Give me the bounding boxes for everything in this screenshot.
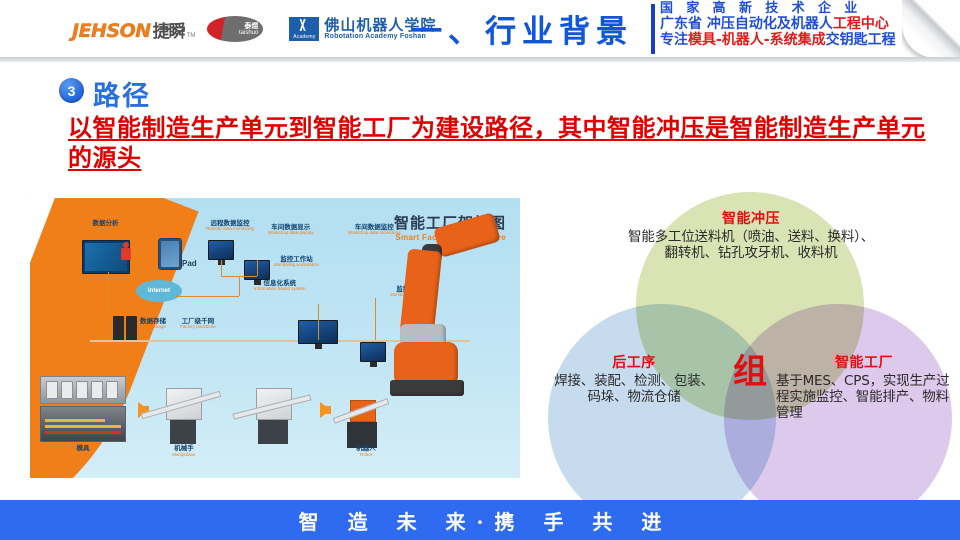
label-mold: 模具 Mold <box>58 442 108 457</box>
jehson-logo-cn: 捷瞬 <box>153 17 185 42</box>
venn-label-smart-factory: 智能工厂 基于MES、CPS，实现生产过程实施监控、智能排产、物料管理 <box>776 352 952 422</box>
company-claim-line-2: 广东省 冲压自动化及机器人工程中心 <box>660 17 918 31</box>
section-title: 一、行业背景 <box>402 6 642 51</box>
company-claim-line-3-segment-2: 交钥匙工程 <box>826 32 896 48</box>
header-divider <box>0 57 960 62</box>
robot-arm-forearm <box>400 248 443 335</box>
label-robot-cn: 机器人 <box>338 442 394 452</box>
node-remote-monitoring: 远程数据监控 Remote data monitoring <box>206 220 254 232</box>
remote-monitor-1-connector <box>221 260 222 276</box>
logo-row: JEHSON 捷瞬 TM 泰煜 taishuo Academy 佛山机器人学院 … <box>72 9 436 49</box>
company-claim-line-2-segment-0: 广东省 冲压自动化及机器人 <box>660 16 833 32</box>
mold-photo-top <box>40 376 126 404</box>
node-data-analysis-en: Data analysis <box>92 227 119 232</box>
label-robot: 机器人 Robot <box>338 442 394 457</box>
venn-label-smart-stamping: 智能冲压 智能多工位送料机（喷油、送料、换料）、翻转机、钻孔攻牙机、收料机 <box>622 208 880 261</box>
academy-mark-label: Academy <box>293 34 315 40</box>
node-data-storage-en: Data storage <box>140 325 166 330</box>
robot-machine <box>350 400 377 448</box>
label-mold-en: Mold <box>58 452 108 457</box>
page-title: 路径 <box>93 74 151 113</box>
label-manipulator-en: Manipulator <box>156 452 212 457</box>
page-curl-decoration <box>902 0 960 58</box>
manipulator-machine-2 <box>256 388 292 444</box>
remote-monitor-drop <box>239 276 240 296</box>
flow-arrow-2-icon <box>320 402 331 418</box>
node-monitoring-workstation-1-en: Monitoring workstation <box>274 263 319 268</box>
step-number-badge: 3 <box>59 78 84 103</box>
node-data-analysis: 数据分析 Data analysis <box>92 220 119 232</box>
analytics-connector <box>108 272 109 316</box>
company-claim-line-2-segment-1: 工程中心 <box>833 16 889 32</box>
jehson-logo: JEHSON 捷瞬 TM <box>72 17 195 42</box>
footer-slogan: 智 造 未 来·携 手 共 进 <box>288 506 673 535</box>
remote-monitor-2-connector <box>257 260 258 276</box>
pad-label-text: Pad <box>182 260 197 269</box>
venn-label-smart-factory-title: 智能工厂 <box>776 352 952 372</box>
slide-header: JEHSON 捷瞬 TM 泰煜 taishuo Academy 佛山机器人学院 … <box>0 0 960 58</box>
slide-footer: 智 造 未 来·携 手 共 进 <box>0 500 960 540</box>
venn-label-post-process-body: 焊接、装配、检测、包装、码垛、物流仓储 <box>550 373 718 405</box>
node-workshop-display-en: Workshop data display <box>268 231 313 236</box>
tablet-icon <box>158 238 182 270</box>
server-2-icon <box>126 316 137 342</box>
node-remote-monitoring-en: Remote data monitoring <box>206 227 254 232</box>
operator-figure-icon <box>118 242 134 264</box>
academy-mark-icon: Academy <box>289 17 319 41</box>
pad-label: Pad <box>182 260 197 269</box>
remote-monitor-1-icon <box>208 240 234 260</box>
internet-cloud-icon: Internet <box>136 280 182 302</box>
company-claim-line-3: 专注模具-机器人-系统集成交钥匙工程 <box>660 33 918 47</box>
internet-cloud-label: Internet <box>148 288 170 294</box>
taihuo-logo: 泰煜 taishuo <box>207 16 263 42</box>
mold-photo-bottom <box>40 406 126 442</box>
taihuo-logo-en: taishuo <box>239 30 258 36</box>
venn-label-smart-stamping-title: 智能冲压 <box>622 208 880 228</box>
venn-label-post-process-title: 后工序 <box>550 352 718 372</box>
venn-label-smart-stamping-body: 智能多工位送料机（喷油、送料、换料）、翻转机、钻孔攻牙机、收料机 <box>622 229 880 261</box>
label-mold-cn: 模具 <box>58 442 108 452</box>
jehson-logo-en: JEHSON <box>72 20 151 42</box>
node-factory-backbone-en: Factory backbone <box>180 325 216 330</box>
manipulator-machine-1 <box>166 388 202 444</box>
node-information-system: 信息化系统 Information based system <box>254 280 306 292</box>
jehson-trademark-icon: TM <box>187 33 196 39</box>
company-claim-line-1-segment-0: 国 家 高 新 技 术 企 业 <box>660 1 862 16</box>
label-robot-en: Robot <box>338 452 394 457</box>
cloud-to-monitor-line <box>176 296 239 297</box>
venn-diagram: 智能冲压 智能多工位送料机（喷油、送料、换料）、翻转机、钻孔攻牙机、收料机 后工… <box>548 192 948 492</box>
node-factory-backbone: 工厂级千网 Factory backbone <box>180 318 216 330</box>
company-claim-line-3-segment-0: 专注 <box>660 32 688 48</box>
taihuo-logo-cn: 泰煜 <box>239 23 258 30</box>
label-manipulator: 机械手 Manipulator <box>156 442 212 457</box>
slide-root: JEHSON 捷瞬 TM 泰煜 taishuo Academy 佛山机器人学院 … <box>0 0 960 540</box>
venn-label-post-process: 后工序 焊接、装配、检测、包装、码垛、物流仓储 <box>550 352 718 405</box>
company-claim-line-3-segment-1: 模具-机器人-系统集成 <box>688 32 826 48</box>
venn-center-label: 组 <box>698 344 802 393</box>
node-workshop-display: 车间数据显示 Workshop data display <box>268 224 313 236</box>
header-accent-bar <box>651 4 655 54</box>
production-flow-row: 模具 Mold 机械手 Manipulator <box>38 374 514 470</box>
company-claims: 国 家 高 新 技 术 企 业 广东省 冲压自动化及机器人工程中心 专注模具-机… <box>660 2 918 47</box>
node-monitoring-workstation-1: 监控工作站 Monitoring workstation <box>274 256 319 268</box>
label-manipulator-cn: 机械手 <box>156 442 212 452</box>
server-1-icon <box>113 316 124 342</box>
lead-paragraph: 以智能制造生产单元到智能工厂为建设路径，其中智能冲压是智能制造生产单元的源头 <box>68 113 948 173</box>
node-information-system-en: Information based system <box>254 287 306 292</box>
node-data-storage: 数据存储 Data storage <box>140 318 166 330</box>
company-claim-line-1: 国 家 高 新 技 术 企 业 <box>660 2 918 15</box>
smart-factory-architecture-image: 智能工厂架构图 Smart Factory Architecture 数据分析 … <box>30 198 520 478</box>
workshop-display-connector <box>318 304 319 340</box>
venn-label-smart-factory-body: 基于MES、CPS，实现生产过程实施监控、智能排产、物料管理 <box>776 373 952 422</box>
